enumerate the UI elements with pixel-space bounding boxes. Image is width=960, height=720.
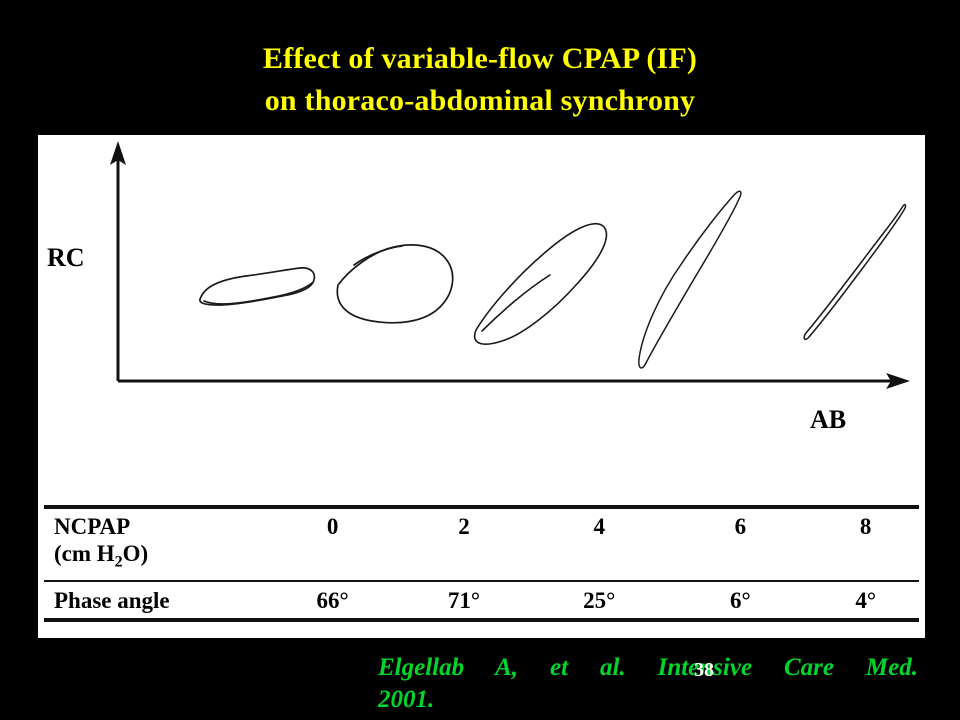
table-rule-bottom <box>44 618 919 622</box>
ncpap-label-line2: (cm H2O) <box>54 540 267 576</box>
cell-ncpap-0: 0 <box>267 509 397 580</box>
cell-ncpap-6: 6 <box>668 509 812 580</box>
cell-ncpap-8: 8 <box>812 509 919 580</box>
loop-ncpap-4 <box>475 224 607 344</box>
page-title: Effect of variable-flow CPAP (IF) on tho… <box>0 38 960 122</box>
loop-ncpap-0 <box>200 268 314 305</box>
plot-svg <box>38 135 925 500</box>
cell-phase-2: 71° <box>398 583 530 618</box>
row-label-ncpap: NCPAP (cm H2O) <box>44 509 267 580</box>
y-axis <box>110 141 126 381</box>
loop-ncpap-8 <box>804 205 905 340</box>
ncpap-unit-subscript: 2 <box>115 554 123 571</box>
cell-phase-6: 6° <box>668 583 812 618</box>
cell-phase-0: 66° <box>267 583 397 618</box>
citation-line-1: Elgellab A, et al. Intensive Care Med. <box>378 652 918 684</box>
cell-ncpap-4: 4 <box>530 509 668 580</box>
konno-mead-plot: RC AB <box>38 135 925 500</box>
row-label-phase-angle: Phase angle <box>44 583 267 618</box>
citation-line-2: 2001. <box>378 684 918 716</box>
title-line-1: Effect of variable-flow CPAP (IF) <box>263 42 697 75</box>
x-axis-label: AB <box>810 405 846 435</box>
cell-ncpap-2: 2 <box>398 509 530 580</box>
data-table: NCPAP (cm H2O) 0 2 4 6 8 Phase angle 66°… <box>44 505 919 622</box>
table-row-phase-angle: Phase angle 66° 71° 25° 6° 4° <box>44 583 919 618</box>
ncpap-unit-prefix: (cm H <box>54 541 115 566</box>
loop-ncpap-2 <box>337 245 452 323</box>
citation: Elgellab A, et al. Intensive Care Med. 2… <box>378 652 918 716</box>
table-row-ncpap: NCPAP (cm H2O) 0 2 4 6 8 <box>44 509 919 580</box>
ncpap-label-line1: NCPAP <box>54 513 267 540</box>
loop-ncpap-6 <box>639 191 741 368</box>
x-axis <box>118 373 910 389</box>
cell-phase-4: 25° <box>530 583 668 618</box>
title-line-2: on thoraco-abdominal synchrony <box>0 80 960 122</box>
slide-number: 38 <box>694 659 714 682</box>
y-axis-label: RC <box>47 243 85 273</box>
figure-panel: RC AB NCPAP (cm H2O) 0 2 4 6 8 <box>38 135 925 638</box>
ncpap-unit-suffix: O) <box>123 541 149 566</box>
cell-phase-8: 4° <box>812 583 919 618</box>
